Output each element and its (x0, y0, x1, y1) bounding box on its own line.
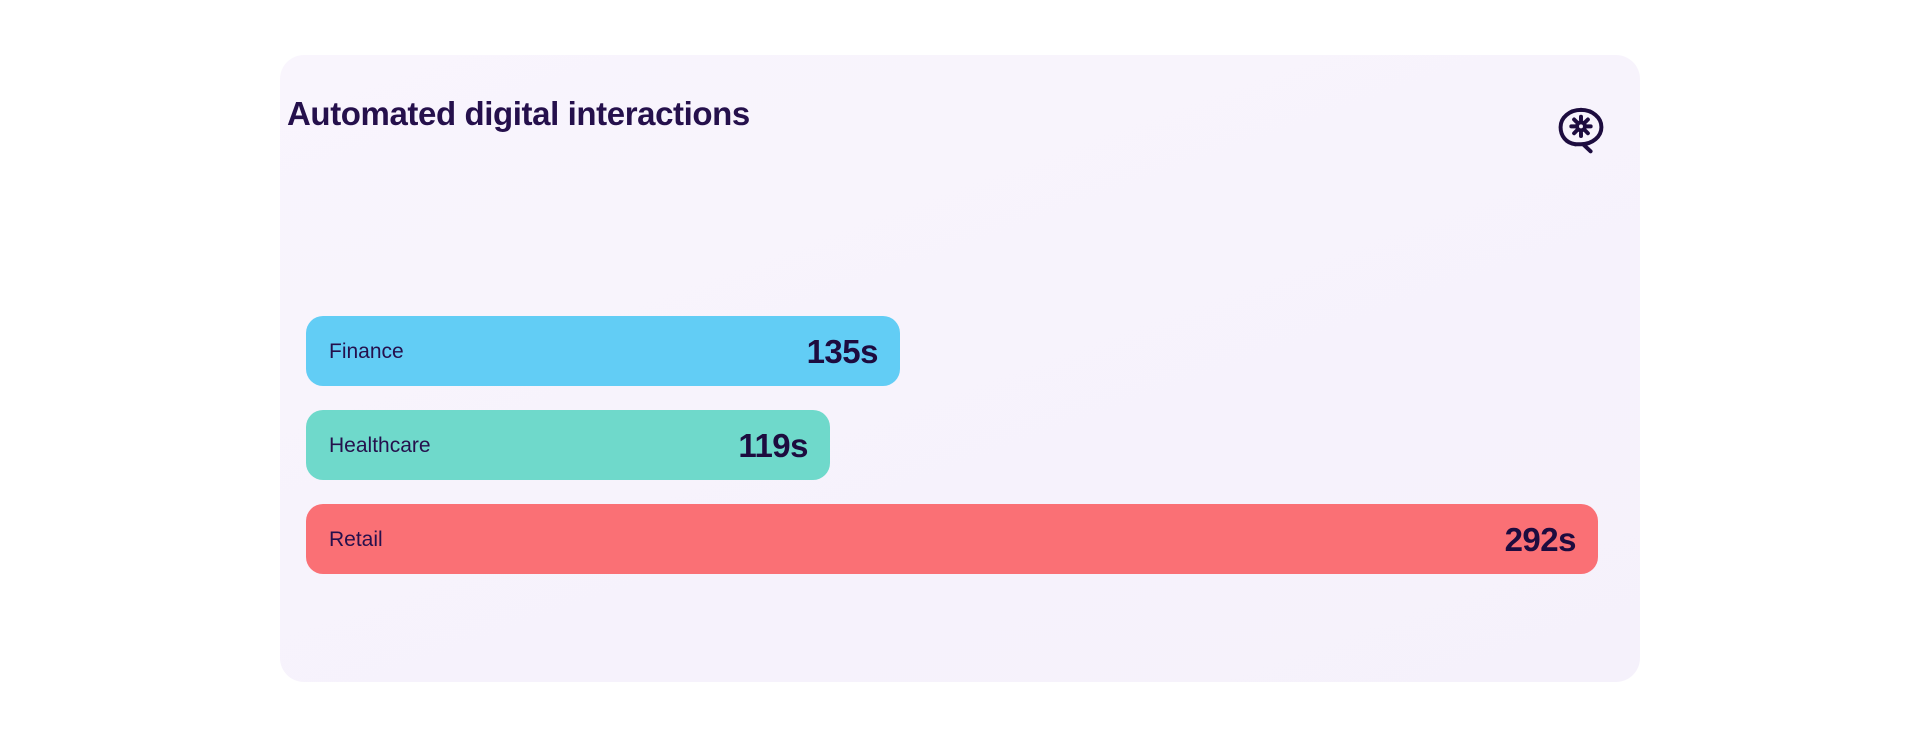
bar-chart: Finance 135s Healthcare 119s Retail 292s (306, 316, 1616, 574)
bar-finance[interactable]: Finance 135s (306, 316, 900, 386)
bar-label: Healthcare (329, 435, 431, 456)
page-title: Automated digital interactions (287, 95, 750, 133)
bar-label: Retail (329, 529, 383, 550)
bar-row: Retail 292s (306, 504, 1616, 574)
chat-gear-icon[interactable] (1550, 97, 1612, 159)
bar-value: 135s (807, 335, 878, 368)
automated-digital-interactions-card: Automated digital interactions Finance (280, 55, 1640, 682)
bar-row: Finance 135s (306, 316, 1616, 386)
screen: Automated digital interactions Finance (0, 0, 1920, 744)
bar-retail[interactable]: Retail 292s (306, 504, 1598, 574)
bar-value: 119s (738, 429, 808, 462)
bar-row: Healthcare 119s (306, 410, 1616, 480)
card-header: Automated digital interactions (280, 55, 1640, 205)
bar-healthcare[interactable]: Healthcare 119s (306, 410, 830, 480)
bar-label: Finance (329, 341, 404, 362)
bar-value: 292s (1505, 523, 1576, 556)
